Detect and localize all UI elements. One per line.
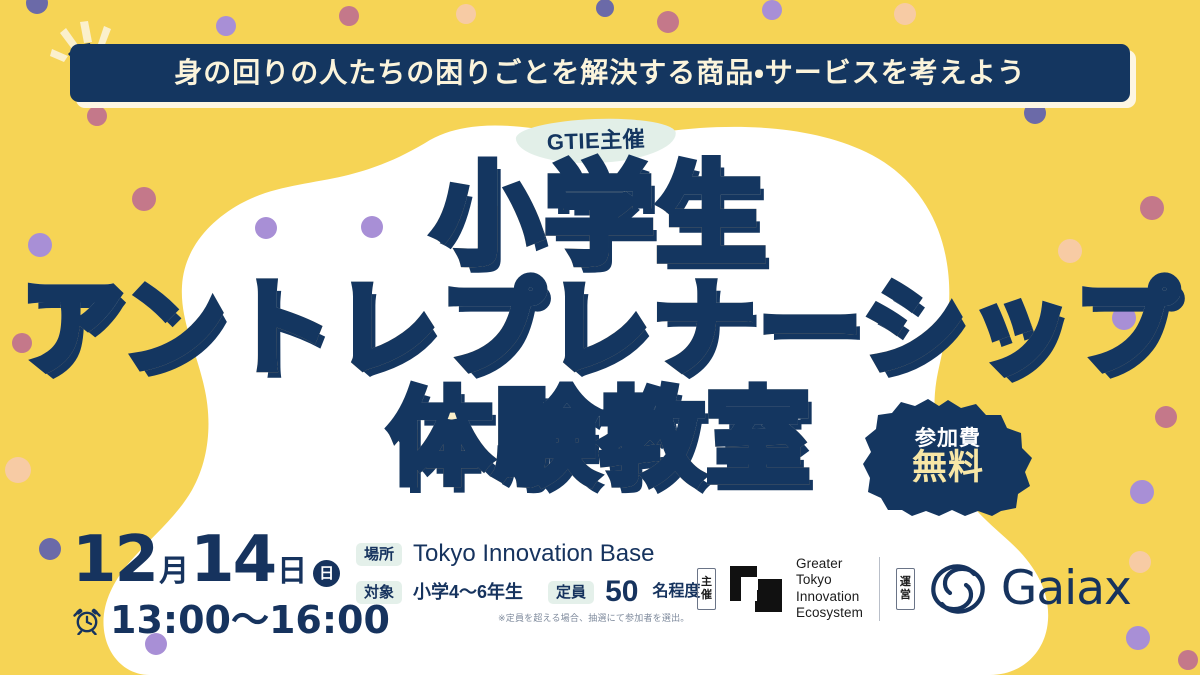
title-line-3: 体験教室 体験教室: [0, 386, 1200, 490]
capacity-suffix: 名程度: [652, 584, 700, 600]
host-logo-group: 主 催 Greater Tokyo Innovation Ecosystem: [697, 556, 863, 622]
host-organization-name: Greater Tokyo Innovation Ecosystem: [796, 556, 863, 622]
headline-banner: 身の回りの人たちの困りごとを解決する商品・サービスを考えよう: [70, 44, 1130, 102]
gtie-logo-mark-icon: [727, 560, 785, 618]
host-label-box: 主 催: [697, 568, 716, 611]
sponsor-logos: 主 催 Greater Tokyo Innovation Ecosystem 運…: [697, 556, 1131, 622]
host-label-char-2: 催: [701, 589, 712, 602]
target-capacity-row: 対象 小学4〜6年生 定員 50 名程度: [356, 577, 700, 607]
host-label-char-1: 主: [701, 576, 712, 589]
event-time-text: 13:00〜16:00: [110, 601, 390, 639]
title-line-1: 小学生 小学生: [0, 160, 1200, 270]
alarm-clock-icon: [72, 605, 102, 635]
venue-value: Tokyo Innovation Base: [413, 542, 655, 566]
event-date-row: 12 月 14 日 日: [72, 528, 390, 592]
banner-headline-text: 身の回りの人たちの困りごとを解決する商品・サービスを考えよう: [174, 59, 1026, 87]
event-details: 場所 Tokyo Innovation Base 対象 小学4〜6年生 定員 5…: [356, 542, 700, 623]
target-tag: 対象: [356, 581, 402, 604]
logo-divider: [879, 557, 880, 621]
operator-label-char-1: 運: [900, 576, 911, 589]
event-day-number: 14: [190, 528, 275, 592]
host-pill-label: GTIE主催: [546, 128, 645, 153]
target-value: 小学4〜6年生: [413, 583, 523, 601]
banner-body: 身の回りの人たちの困りごとを解決する商品・サービスを考えよう: [70, 44, 1130, 102]
event-time-row: 13:00〜16:00: [72, 601, 390, 639]
operator-label-box: 運 営: [896, 568, 915, 611]
host-name-line-4: Ecosystem: [796, 605, 863, 621]
operator-wordmark: Gaiax: [1001, 565, 1131, 612]
title-line-2-text: アントレプレナーシップ: [20, 276, 1180, 380]
poster-canvas: 身の回りの人たちの困りごとを解決する商品・サービスを考えよう GTIE主催 小学…: [0, 0, 1200, 675]
capacity-tag: 定員: [548, 581, 594, 604]
title-line-3-text: 体験教室: [388, 386, 812, 490]
event-day-unit: 日: [277, 557, 307, 587]
host-name-line-1: Greater: [796, 556, 863, 572]
gaiax-swirl-logo-icon: [927, 561, 989, 617]
event-month-number: 12: [72, 528, 157, 592]
main-title: 小学生 小学生 アントレプレナーシップ アントレプレナーシップ 体験教室 体験教…: [0, 160, 1200, 490]
title-line-2: アントレプレナーシップ アントレプレナーシップ: [0, 276, 1200, 380]
capacity-note: ※定員を超える場合、抽選にて参加者を選出。: [498, 614, 700, 623]
event-month-unit: 月: [159, 557, 189, 587]
event-day-of-week: 日: [313, 560, 340, 587]
host-name-line-3: Innovation: [796, 589, 863, 605]
capacity-number: 50: [605, 577, 638, 607]
title-line-1-text: 小学生: [432, 160, 768, 270]
operator-logo-group: 運 営 Gaiax: [896, 561, 1131, 617]
operator-label-char-2: 営: [900, 589, 911, 602]
venue-tag: 場所: [356, 543, 402, 566]
event-date-block: 12 月 14 日 日 13:00〜16:00: [72, 528, 390, 639]
host-name-line-2: Tokyo: [796, 572, 863, 588]
venue-row: 場所 Tokyo Innovation Base: [356, 542, 700, 566]
